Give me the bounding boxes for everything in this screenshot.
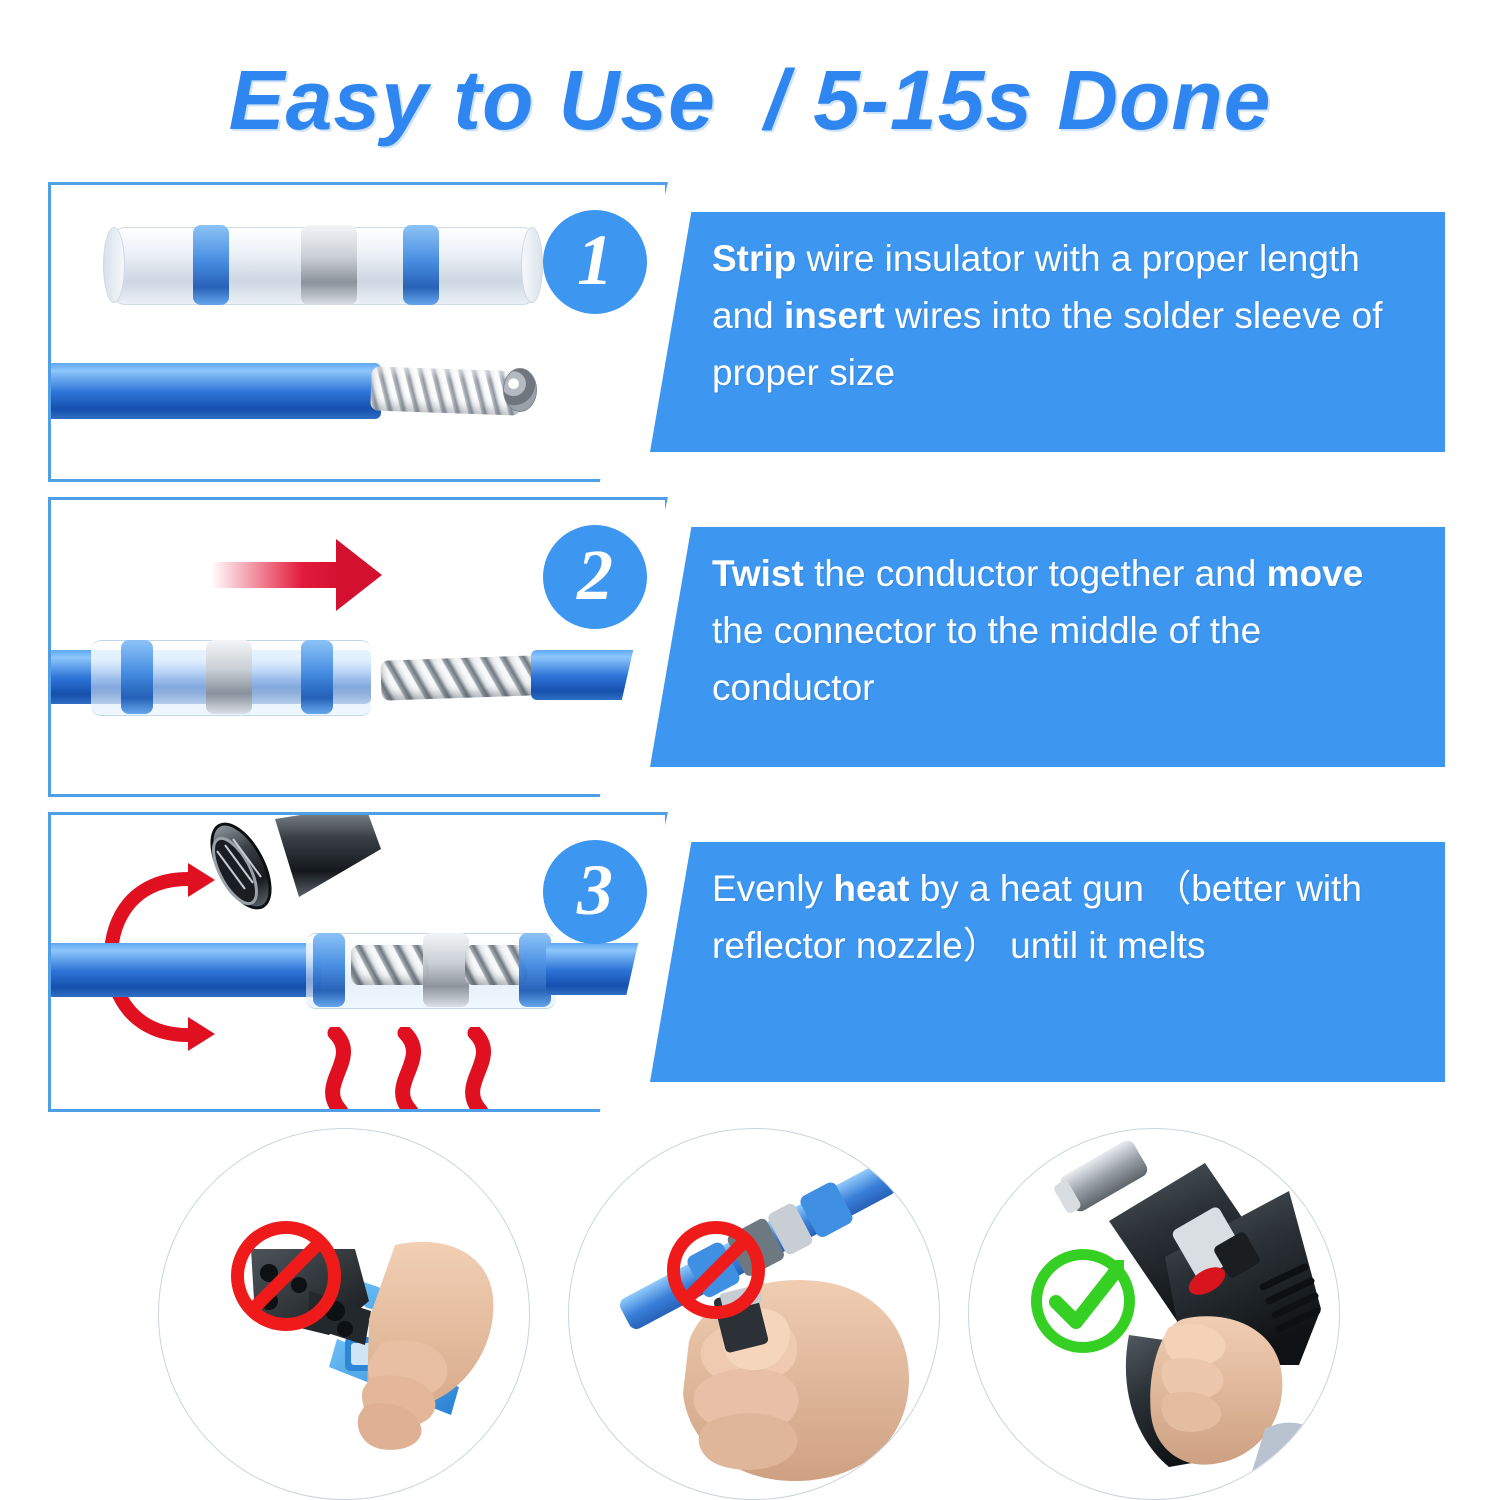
wire-assembled-left xyxy=(51,943,321,997)
step-1-callout: Strip wire insulator with a proper lengt… xyxy=(650,212,1445,452)
step-1-keyword-1: Strip xyxy=(712,238,796,279)
page-title: Easy to Use / 5-15s Done xyxy=(0,52,1500,149)
photo-lighter xyxy=(568,1128,940,1500)
sleeve-ring-a xyxy=(121,640,153,714)
crimping-pliers-illustration xyxy=(159,1129,530,1500)
step-2-body-1: the conductor together and xyxy=(804,553,1267,594)
twisted-conductors xyxy=(380,655,536,700)
step-1-text: Strip wire insulator with a proper lengt… xyxy=(712,230,1412,401)
heat-waves-icon xyxy=(313,1027,543,1109)
strand-cross-section xyxy=(503,368,537,412)
sleeve-ring-b xyxy=(301,640,333,714)
twisted-conductors-3b xyxy=(465,945,527,985)
step-3-text: Evenly heat by a heat gun （better with r… xyxy=(712,860,1412,974)
reflector-nozzle-icon xyxy=(179,815,389,931)
slide-arrow-head xyxy=(336,539,382,611)
wire-right xyxy=(531,650,665,700)
wire-assembled-right xyxy=(546,943,665,995)
solder-band-2 xyxy=(206,640,252,714)
step-2-body-2: the connector to the middle of the condu… xyxy=(712,610,1261,708)
step-2-text: Twist the conductor together and move th… xyxy=(712,545,1412,716)
sleeve-ring-left xyxy=(193,225,229,305)
photo-crimping-pliers xyxy=(158,1128,530,1500)
checkmark-icon xyxy=(1031,1249,1135,1353)
step-number-2: 2 xyxy=(543,525,647,629)
slide-arrow-shaft xyxy=(211,562,341,588)
photo-heat-gun xyxy=(968,1128,1340,1500)
step-number-badge-3: 3 xyxy=(543,840,647,944)
sleeve-ring-right xyxy=(403,225,439,305)
lighter-illustration xyxy=(569,1129,940,1500)
step-1-keyword-2: insert xyxy=(784,295,885,336)
step-number-1: 1 xyxy=(543,210,647,314)
prohibition-icon xyxy=(667,1221,765,1319)
step-2-keyword-2: move xyxy=(1267,553,1364,594)
prohibition-icon xyxy=(231,1221,341,1331)
sleeve-end-right xyxy=(521,227,543,303)
insulated-wire xyxy=(51,363,381,419)
step-row-3: 3 Evenly heat by a heat gun （better with… xyxy=(0,812,1500,1112)
sleeve-end-left xyxy=(103,227,125,303)
heat-gun-illustration xyxy=(969,1129,1340,1500)
step-number-badge-2: 2 xyxy=(543,525,647,629)
sleeve-ring-c xyxy=(313,933,345,1007)
infographic-root: Easy to Use / 5-15s Done 1 St xyxy=(0,0,1500,1500)
step-3-keyword-1: heat xyxy=(833,868,909,909)
usage-examples xyxy=(0,1128,1500,1500)
step-3-callout: Evenly heat by a heat gun （better with r… xyxy=(650,842,1445,1082)
step-row-1: 1 Strip wire insulator with a proper len… xyxy=(0,182,1500,482)
step-number-3: 3 xyxy=(543,840,647,944)
step-2-callout: Twist the conductor together and move th… xyxy=(650,527,1445,767)
solder-band xyxy=(301,225,357,305)
step-2-keyword-1: Twist xyxy=(712,553,804,594)
check-glyph xyxy=(1042,1260,1124,1342)
step-number-badge-1: 1 xyxy=(543,210,647,314)
solder-band-3 xyxy=(423,933,469,1007)
exposed-strands xyxy=(370,366,521,415)
twisted-conductors-3a xyxy=(351,945,429,985)
step-row-2: 2 Twist the conductor together and move … xyxy=(0,497,1500,797)
step-3-body-1: Evenly xyxy=(712,868,833,909)
